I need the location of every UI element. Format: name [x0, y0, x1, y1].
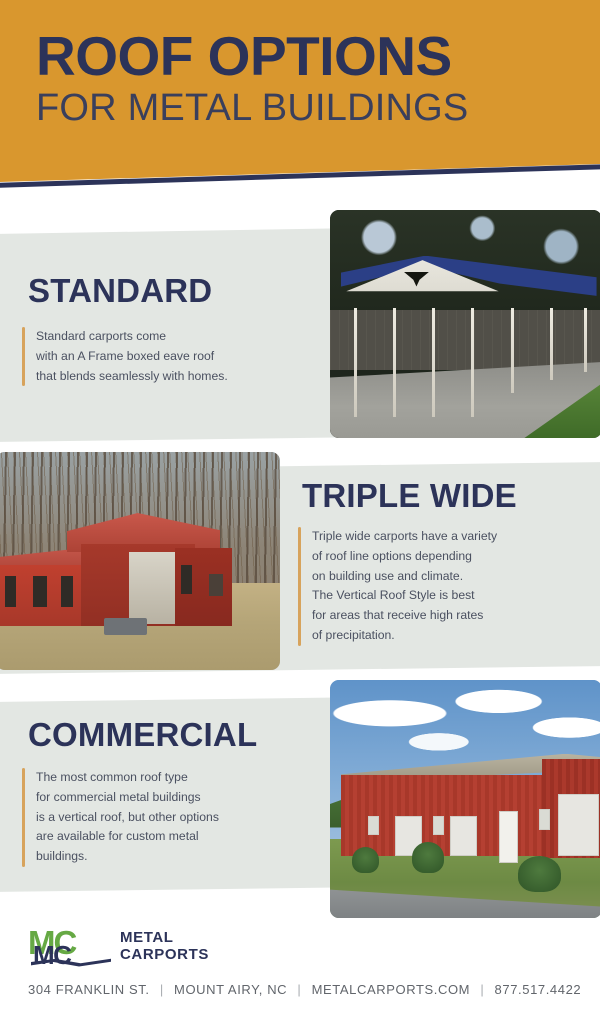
- footer-address: 304 FRANKLIN ST.: [28, 982, 150, 997]
- logo-wordmark: METAL CARPORTS: [120, 930, 209, 963]
- header-text-block: ROOF OPTIONS FOR METAL BUILDINGS: [0, 0, 600, 130]
- footer-contact-line: 304 FRANKLIN ST. | MOUNT AIRY, NC | META…: [28, 982, 581, 997]
- accent-bar-triple-wide: [298, 527, 301, 646]
- accent-bar-standard: [22, 327, 25, 386]
- page-title: ROOF OPTIONS: [36, 28, 582, 84]
- section-body-commercial: The most common roof type for commercial…: [22, 768, 304, 867]
- triple-wide-barn-photo: [0, 452, 280, 670]
- section-title-triple-wide: TRIPLE WIDE: [302, 477, 517, 515]
- section-body-triple-wide: Triple wide carports have a variety of r…: [298, 527, 590, 646]
- commercial-metal-building-photo: [330, 680, 600, 918]
- wheelbarrow: [104, 618, 147, 635]
- section-body-text-triple-wide: Triple wide carports have a variety of r…: [312, 527, 497, 646]
- footer-city: MOUNT AIRY, NC: [174, 982, 287, 997]
- standard-carport-photo: [330, 210, 600, 438]
- section-title-standard: STANDARD: [28, 272, 212, 310]
- header-banner: ROOF OPTIONS FOR METAL BUILDINGS: [0, 0, 600, 182]
- accent-bar-commercial: [22, 768, 25, 867]
- footer-separator-1: |: [154, 982, 170, 997]
- section-body-text-commercial: The most common roof type for commercial…: [36, 768, 219, 867]
- section-body-text-standard: Standard carports come with an A Frame b…: [36, 327, 228, 386]
- infographic-poster: ROOF OPTIONS FOR METAL BUILDINGS STANDAR…: [0, 0, 600, 1016]
- metal-carports-logo[interactable]: MC MC METAL CARPORTS: [28, 928, 238, 976]
- footer-separator-2: |: [291, 982, 307, 997]
- section-title-commercial: COMMERCIAL: [28, 716, 257, 754]
- carport-posts: [349, 308, 594, 417]
- section-body-standard: Standard carports come with an A Frame b…: [22, 327, 302, 386]
- page-subtitle: FOR METAL BUILDINGS: [36, 88, 582, 130]
- logo-word-metal: METAL: [120, 930, 209, 947]
- footer-separator-3: |: [474, 982, 490, 997]
- footer-phone[interactable]: 877.517.4422: [495, 982, 582, 997]
- logo-word-carports: CARPORTS: [120, 947, 209, 964]
- footer-website[interactable]: METALCARPORTS.COM: [312, 982, 471, 997]
- footer: MC MC METAL CARPORTS 304 FRANKLIN ST. | …: [0, 918, 600, 1016]
